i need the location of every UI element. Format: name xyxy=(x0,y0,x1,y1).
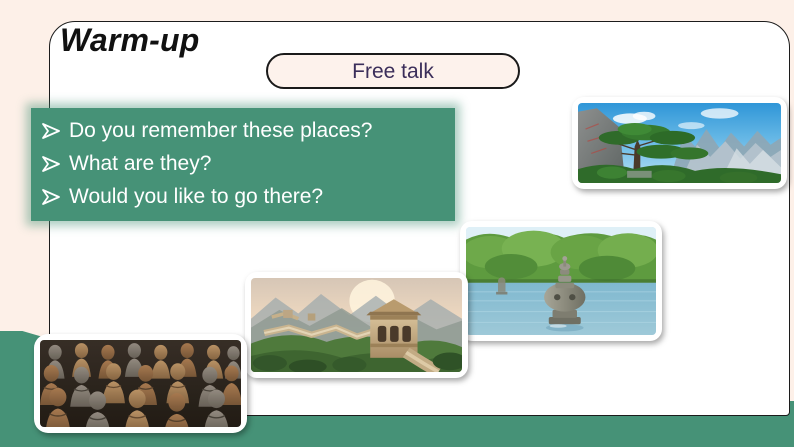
terracotta-photo-image xyxy=(40,340,241,427)
great-wall-photo[interactable] xyxy=(245,272,468,378)
huangshan-photo-image xyxy=(578,103,781,183)
list-item: What are they? xyxy=(41,147,455,180)
great-wall-photo-image xyxy=(251,278,462,372)
section-pill-label: Free talk xyxy=(352,61,434,82)
arrow-bullet-icon xyxy=(41,188,67,206)
arrow-bullet-icon xyxy=(41,155,67,173)
huangshan-photo[interactable] xyxy=(572,97,787,189)
west-lake-photo[interactable] xyxy=(460,221,662,341)
list-item: Do you remember these places? xyxy=(41,114,455,147)
list-item: Would you like to go there? xyxy=(41,180,455,213)
slide-canvas: Warm-up Free talk Do you remember these … xyxy=(0,0,794,447)
arrow-bullet-icon xyxy=(41,122,67,140)
questions-box: Do you remember these places? What are t… xyxy=(31,108,455,221)
section-pill[interactable]: Free talk xyxy=(266,53,520,89)
terracotta-photo[interactable] xyxy=(34,334,247,433)
question-text: Would you like to go there? xyxy=(69,185,323,209)
west-lake-photo-image xyxy=(466,227,656,335)
question-text: What are they? xyxy=(69,152,211,176)
question-text: Do you remember these places? xyxy=(69,119,373,143)
page-title: Warm-up xyxy=(60,22,199,59)
